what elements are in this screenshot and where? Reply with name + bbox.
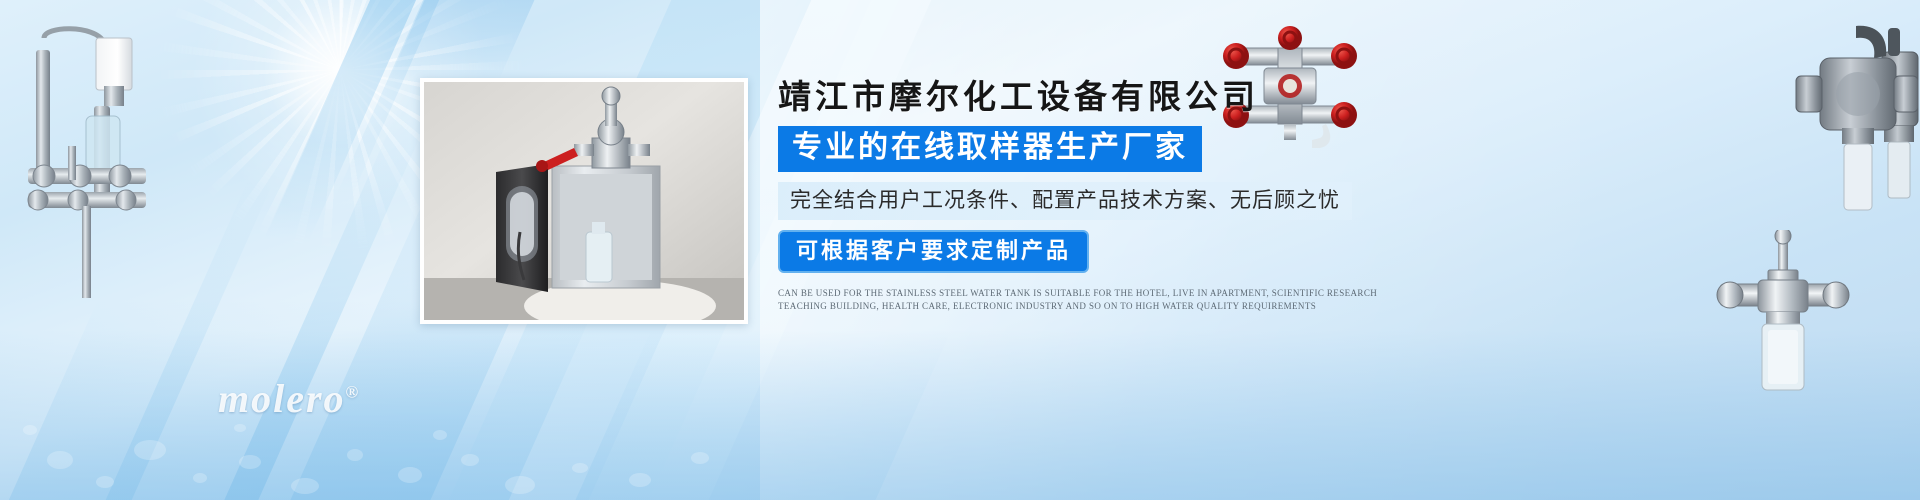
- text-content-block: 靖江市摩尔化工设备有限公司 专业的在线取样器生产厂家 完全结合用户工况条件、配置…: [778, 78, 1398, 313]
- right-equipment-image-secondary: [1790, 22, 1920, 228]
- diagonal-stripe: [549, 330, 951, 500]
- promotional-banner: 靖江市摩尔化工设备有限公司 专业的在线取样器生产厂家 完全结合用户工况条件、配置…: [0, 0, 1920, 500]
- headline-badge: 专业的在线取样器生产厂家: [778, 126, 1202, 172]
- watermark-registered-mark: ®: [346, 383, 361, 402]
- diagonal-stripe: [207, 120, 428, 500]
- watermark-text: molero: [218, 376, 346, 421]
- diagonal-stripe: [389, 0, 561, 80]
- company-title: 靖江市摩尔化工设备有限公司: [778, 78, 1398, 118]
- left-equipment-image: [8, 20, 188, 310]
- watermark: molero®: [218, 375, 360, 422]
- bottom-right-equipment-image: [1700, 230, 1870, 410]
- description-text: 完全结合用户工况条件、配置产品技术方案、无后顾之忧: [778, 182, 1352, 220]
- diagonal-stripe: [263, 0, 443, 240]
- english-caption: CAN BE USED FOR THE STAINLESS STEEL WATE…: [778, 287, 1378, 313]
- center-product-photo: [420, 78, 748, 324]
- water-droplets-decoration: [0, 310, 760, 500]
- custom-order-badge: 可根据客户要求定制产品: [778, 230, 1089, 273]
